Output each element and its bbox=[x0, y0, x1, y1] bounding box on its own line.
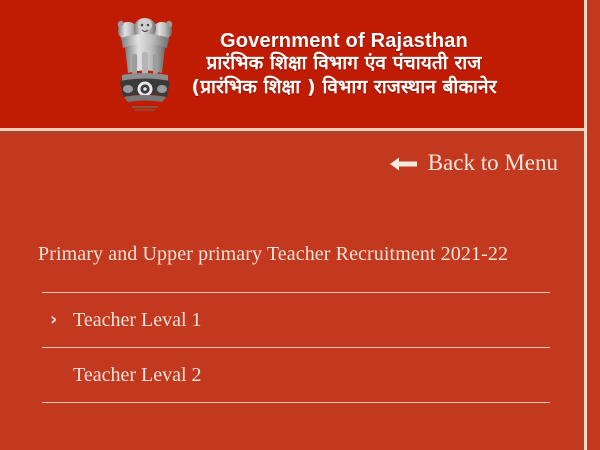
ashoka-lion-capital-emblem-icon bbox=[113, 14, 177, 118]
back-to-menu-row: Back to Menu bbox=[0, 146, 572, 180]
list-item-label: Teacher Leval 1 bbox=[73, 309, 202, 332]
site-header-banner: Government of Rajasthan प्रारंभिक शिक्षा… bbox=[0, 0, 600, 128]
container-right-gutter bbox=[587, 0, 600, 450]
banner-title-block: Government of Rajasthan प्रारंभिक शिक्षा… bbox=[191, 30, 496, 98]
arrow-left-icon bbox=[390, 156, 417, 172]
back-to-menu-label: Back to Menu bbox=[428, 150, 558, 176]
banner-separator-dark bbox=[0, 131, 600, 134]
page-root: Government of Rajasthan प्रारंभिक शिक्षा… bbox=[0, 0, 600, 450]
page-title: Primary and Upper primary Teacher Recrui… bbox=[38, 243, 508, 266]
list-item-label: Teacher Leval 2 bbox=[73, 364, 202, 387]
list-item-teacher-leval-2[interactable]: Teacher Leval 2 bbox=[42, 348, 550, 402]
list-item-teacher-leval-1[interactable]: › Teacher Leval 1 bbox=[42, 293, 550, 347]
recruitment-list: › Teacher Leval 1 Teacher Leval 2 bbox=[42, 292, 550, 403]
banner-title-english: Government of Rajasthan bbox=[220, 30, 468, 52]
banner-title-hindi-2: (प्रारंभिक शिक्षा ) विभाग राजस्थान बीकान… bbox=[191, 77, 496, 98]
list-divider-bottom bbox=[42, 402, 550, 403]
banner-title-hindi-1: प्रारंभिक शिक्षा विभाग एंव पंचायती राज bbox=[207, 53, 482, 74]
chevron-right-icon: › bbox=[50, 311, 57, 329]
back-to-menu-link[interactable]: Back to Menu bbox=[390, 150, 558, 176]
